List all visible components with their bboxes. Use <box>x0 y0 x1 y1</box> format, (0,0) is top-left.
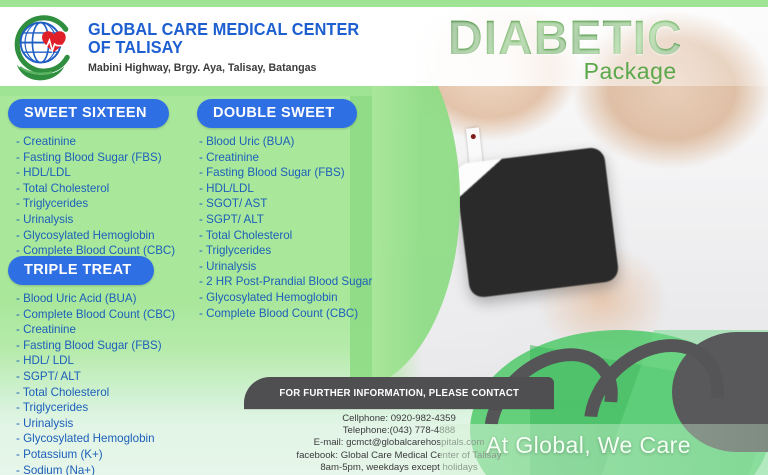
list-item: Creatinine <box>199 150 372 166</box>
list-item: Triglycerides <box>16 400 175 416</box>
header-top-green-strip <box>0 0 768 7</box>
list-item: SGPT/ ALT <box>199 212 372 228</box>
list-item: HDL/ LDL <box>16 353 175 369</box>
org-address: Mabini Highway, Brgy. Aya, Talisay, Bata… <box>88 62 371 74</box>
org-name-line1: GLOBAL CARE MEDICAL CENTER <box>88 20 359 39</box>
package-sweet-sixteen: SWEET SIXTEEN Creatinine Fasting Blood S… <box>8 99 175 259</box>
poster-root: GLOBAL CARE MEDICAL CENTER OF TALISAY Ma… <box>0 0 768 475</box>
list-item: Urinalysis <box>199 259 372 275</box>
list-item: Creatinine <box>16 322 175 338</box>
package-label-sweet-sixteen: SWEET SIXTEEN <box>8 99 169 128</box>
list-item: Triglycerides <box>199 243 372 259</box>
title-main: DIABETIC <box>448 14 683 64</box>
list-item: Fasting Blood Sugar (FBS) <box>199 165 372 181</box>
list-item: Total Cholesterol <box>16 385 175 401</box>
package-label-double-sweet: DOUBLE SWEET <box>197 99 357 128</box>
package-double-sweet: DOUBLE SWEET Blood Uric (BUA) Creatinine… <box>197 99 372 321</box>
list-item: SGPT/ ALT <box>16 369 175 385</box>
list-item: Complete Blood Count (CBC) <box>199 306 372 322</box>
list-item: HDL/LDL <box>199 181 372 197</box>
list-item: Blood Uric Acid (BUA) <box>16 291 175 307</box>
org-name-line2: OF TALISAY <box>88 38 359 57</box>
list-item: SGOT/ AST <box>199 196 372 212</box>
list-item: Triglycerides <box>16 196 175 212</box>
list-item: Total Cholesterol <box>16 181 175 197</box>
tagline-text: At Global, We Care <box>486 432 691 459</box>
list-item: Complete Blood Count (CBC) <box>16 307 175 323</box>
contact-banner: FOR FURTHER INFORMATION, PLEASE CONTACT <box>244 377 554 409</box>
list-item: Urinalysis <box>16 416 175 432</box>
package-item-list-triple-treat: Blood Uric Acid (BUA) Complete Blood Cou… <box>16 291 175 475</box>
list-item: Sodium (Na+) <box>16 463 175 475</box>
list-item: Fasting Blood Sugar (FBS) <box>16 150 175 166</box>
contact-banner-text: FOR FURTHER INFORMATION, PLEASE CONTACT <box>279 387 519 399</box>
package-item-list-double-sweet: Blood Uric (BUA) Creatinine Fasting Bloo… <box>199 134 372 321</box>
package-triple-treat: TRIPLE TREAT Blood Uric Acid (BUA) Compl… <box>8 256 175 475</box>
list-item: Glycosylated Hemoglobin <box>16 228 175 244</box>
list-item: Glycosylated Hemoglobin <box>16 431 175 447</box>
list-item: Creatinine <box>16 134 175 150</box>
org-identity: GLOBAL CARE MEDICAL CENTER OF TALISAY Ma… <box>88 20 380 74</box>
globe-heart-hand-logo-icon <box>8 10 82 84</box>
list-item: 2 HR Post-Prandial Blood Sugar <box>199 274 372 290</box>
list-item: Urinalysis <box>16 212 175 228</box>
poster-title: DIABETIC Package <box>448 14 683 85</box>
list-item: Fasting Blood Sugar (FBS) <box>16 338 175 354</box>
list-item: Blood Uric (BUA) <box>199 134 372 150</box>
list-item: Total Cholesterol <box>199 228 372 244</box>
package-label-triple-treat: TRIPLE TREAT <box>8 256 154 285</box>
test-strip-icon <box>466 127 483 168</box>
header-bottom-green-strip <box>0 86 372 96</box>
package-item-list-sweet-sixteen: Creatinine Fasting Blood Sugar (FBS) HDL… <box>16 134 175 259</box>
list-item: Potassium (K+) <box>16 447 175 463</box>
list-item: HDL/LDL <box>16 165 175 181</box>
list-item: Glycosylated Hemoglobin <box>199 290 372 306</box>
